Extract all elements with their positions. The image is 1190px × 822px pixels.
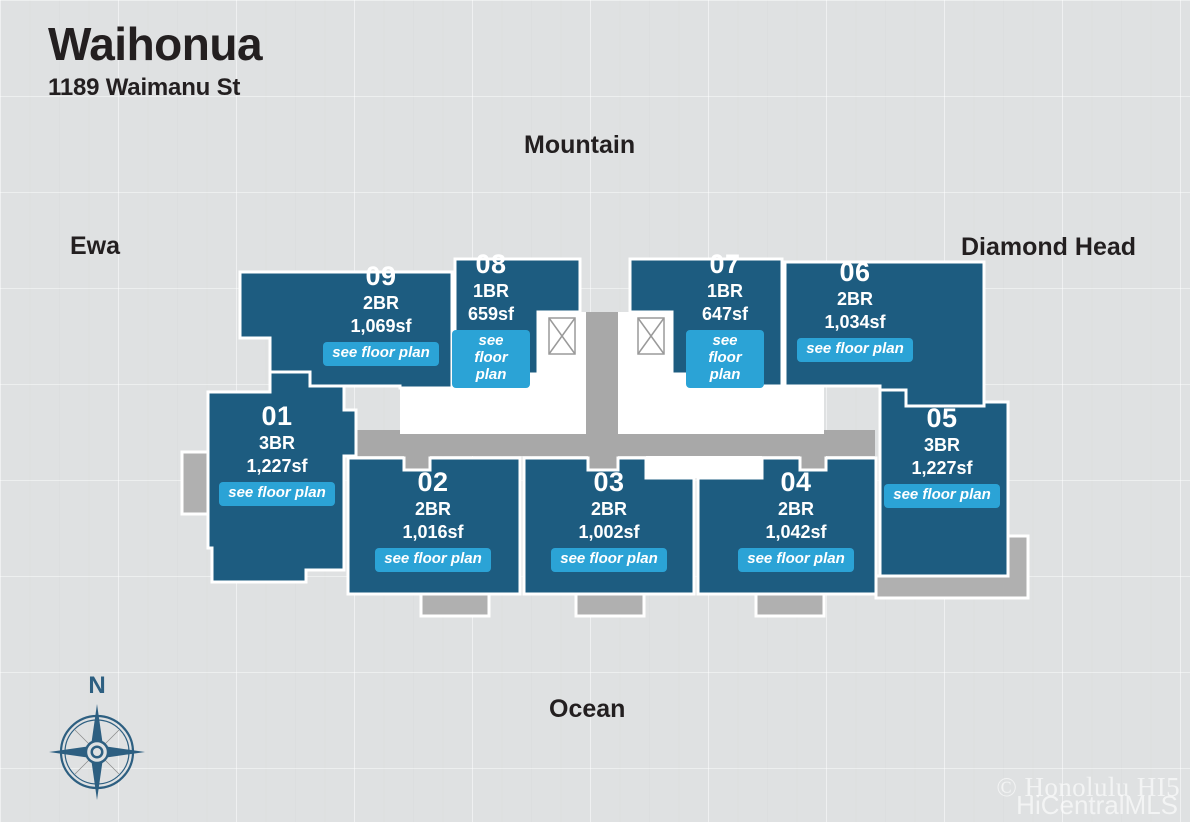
lobby-ocean-side (646, 456, 762, 478)
compass-rose: N (47, 672, 147, 802)
core-stub-unit-02 (404, 452, 430, 470)
core-stub-unit-04 (800, 452, 826, 470)
compass-rose-icon (47, 702, 147, 802)
balcony-unit-03 (576, 594, 644, 616)
see-floor-plan-button-03[interactable]: see floor plan (551, 548, 667, 572)
core-corridor-vertical (586, 312, 618, 434)
see-floor-plan-button-09[interactable]: see floor plan (323, 342, 439, 366)
unit-shape-03[interactable] (524, 458, 694, 594)
unit-shape-05[interactable] (880, 390, 1008, 576)
balcony-unit-01 (182, 452, 208, 514)
see-floor-plan-button-06[interactable]: see floor plan (797, 338, 913, 362)
unit-shape-01[interactable] (208, 372, 356, 582)
see-floor-plan-button-04[interactable]: see floor plan (738, 548, 854, 572)
balcony-unit-04 (756, 594, 824, 616)
see-floor-plan-button-07[interactable]: see floor plan (686, 330, 764, 387)
core-stub-unit-03 (588, 452, 618, 470)
see-floor-plan-button-01[interactable]: see floor plan (219, 482, 335, 506)
see-floor-plan-button-05[interactable]: see floor plan (884, 484, 1000, 508)
see-floor-plan-button-08[interactable]: see floor plan (452, 330, 530, 387)
balcony-unit-02 (421, 594, 489, 616)
unit-shape-06[interactable] (785, 262, 984, 406)
floor-plan-page: Waihonua 1189 Waimanu St Mountain Ewa Di… (0, 0, 1190, 822)
unit-shape-02[interactable] (348, 458, 520, 594)
compass-north-label: N (47, 672, 147, 700)
unit-shape-04[interactable] (698, 458, 876, 594)
see-floor-plan-button-02[interactable]: see floor plan (375, 548, 491, 572)
floor-plate-diagram (0, 0, 1190, 822)
